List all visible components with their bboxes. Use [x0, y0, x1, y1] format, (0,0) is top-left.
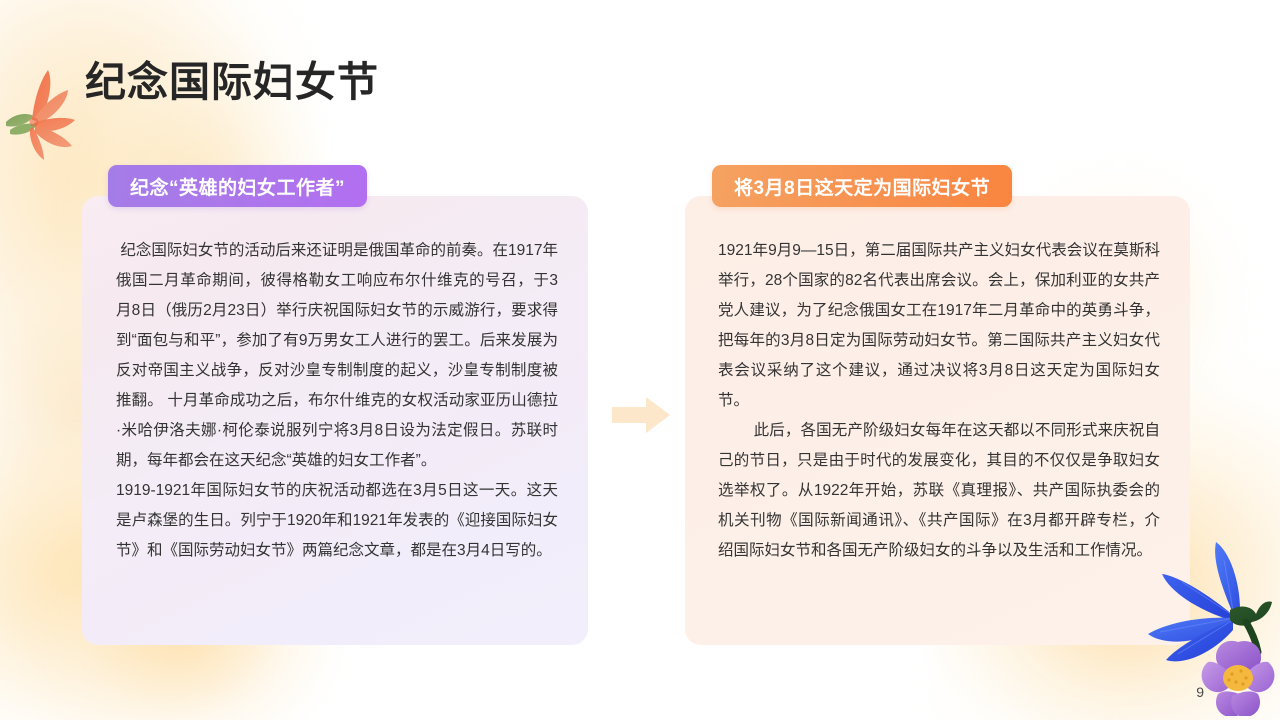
orange-flower-icon — [4, 56, 90, 161]
blue-purple-flower-icon — [1134, 526, 1276, 716]
panel-right-body: 1921年9月9—15日，第二届国际共产主义妇女代表会议在莫斯科举行，28个国家… — [718, 236, 1160, 566]
title-row: 纪念国际妇女节 — [0, 48, 700, 120]
panel-right-badge: 将3月8日这天定为国际妇女节 — [712, 165, 1012, 207]
page-title: 纪念国际妇女节 — [85, 46, 379, 118]
right-arrow-icon — [610, 394, 672, 436]
slide-root: 纪念国际妇女节 纪念“英雄的妇女工作者” 纪念国际妇女节的活动后来还证明是俄国革… — [0, 0, 1280, 720]
page-number: 9 — [1196, 684, 1204, 700]
panel-left-badge: 纪念“英雄的妇女工作者” — [108, 165, 367, 207]
panel-left-body: 纪念国际妇女节的活动后来还证明是俄国革命的前奏。在1917年俄国二月革命期间，彼… — [116, 236, 558, 566]
